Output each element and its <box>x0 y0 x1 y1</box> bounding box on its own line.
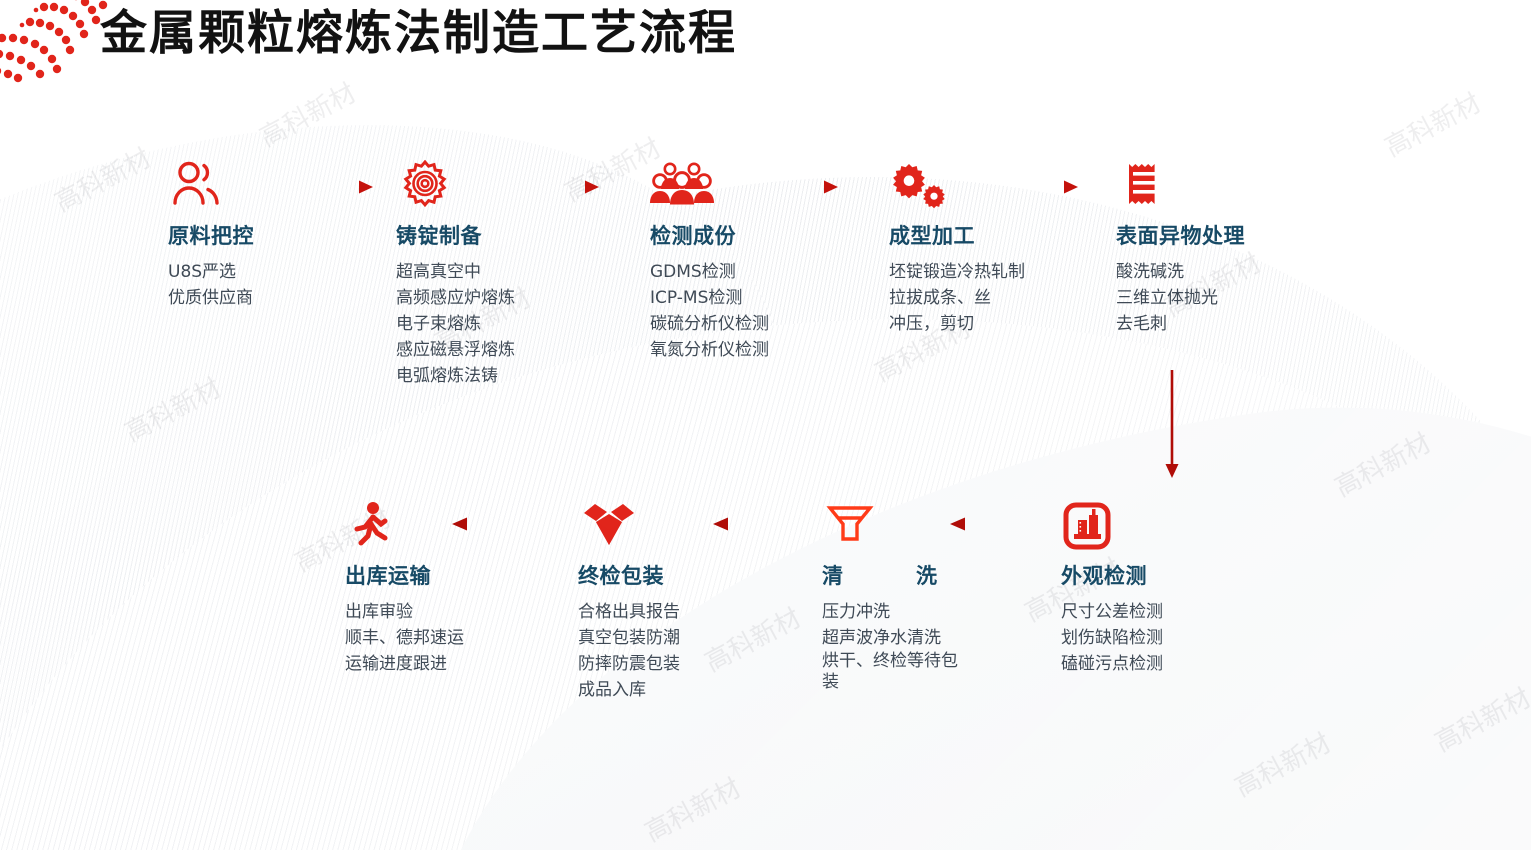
factory-badge-icon <box>1061 500 1117 556</box>
flow-step-title: 终检包装 <box>578 560 680 590</box>
flow-step-title: 检测成份 <box>650 220 769 250</box>
flow-step-final-inspection-packing[interactable]: 终检包装 合格出具报告 真空包装防潮 防摔防震包装 成品入库 <box>578 500 680 703</box>
flow-step-title: 清 洗 <box>822 560 972 590</box>
flow-arrow-right-1 <box>295 178 375 196</box>
flow-step-line: 超高真空中 <box>396 259 515 285</box>
flow-step-line: 三维立体抛光 <box>1116 285 1245 311</box>
flow-arrow-down-5 <box>1163 370 1181 480</box>
flow-step-line: 超声波净水清洗 <box>822 625 972 651</box>
people-group-icon <box>650 160 714 216</box>
flow-step-surface-foreign-matter[interactable]: 表面异物处理 酸洗碱洗 三维立体抛光 去毛刺 <box>1116 160 1245 337</box>
flow-step-title: 铸锭制备 <box>396 220 515 250</box>
flow-step-line: 烘干、终检等待包装 <box>822 651 972 693</box>
flow-step-lines: 尺寸公差检测 划伤缺陷检测 磕碰污点检测 <box>1061 599 1163 677</box>
flow-step-line: 压力冲洗 <box>822 599 972 625</box>
flow-step-line: 磕碰污点检测 <box>1061 651 1163 677</box>
flow-step-line: 拉拔成条、丝 <box>889 285 1025 311</box>
flow-step-composition-testing[interactable]: 检测成份 GDMS检测 ICP-MS检测 碳硫分析仪检测 氧氮分析仪检测 <box>650 160 769 363</box>
flow-step-lines: U8S严选 优质供应商 <box>168 259 254 311</box>
flow-step-line: 成品入库 <box>578 677 680 703</box>
flow-step-title: 外观检测 <box>1061 560 1163 590</box>
flow-step-line: 高频感应炉熔炼 <box>396 285 515 311</box>
flow-step-line: 出库审验 <box>345 599 464 625</box>
flow-step-title: 出库运输 <box>345 560 464 590</box>
flow-step-line: GDMS检测 <box>650 259 769 285</box>
flow-arrow-right-2 <box>521 178 601 196</box>
funnel-icon <box>822 500 878 556</box>
flow-step-line: 尺寸公差检测 <box>1061 599 1163 625</box>
flow-step-line: 碳硫分析仪检测 <box>650 311 769 337</box>
flow-step-title: 表面异物处理 <box>1116 220 1245 250</box>
flow-step-lines: 合格出具报告 真空包装防潮 防摔防震包装 成品入库 <box>578 599 680 703</box>
flow-step-title: 成型加工 <box>889 220 1025 250</box>
flow-step-lines: 超高真空中 高频感应炉熔炼 电子束熔炼 感应磁悬浮熔炼 电弧熔炼法铸 <box>396 259 515 389</box>
flow-step-line: 感应磁悬浮熔炼 <box>396 337 515 363</box>
flow-step-line: 划伤缺陷检测 <box>1061 625 1163 651</box>
flow-step-lines: 压力冲洗 超声波净水清洗 烘干、终检等待包装 <box>822 599 972 693</box>
flow-step-line: ICP-MS检测 <box>650 285 769 311</box>
two-gears-icon <box>889 160 951 216</box>
flow-step-line: 酸洗碱洗 <box>1116 259 1245 285</box>
flow-step-title: 原料把控 <box>168 220 254 250</box>
flow-step-ingot-preparation[interactable]: 铸锭制备 超高真空中 高频感应炉熔炼 电子束熔炼 感应磁悬浮熔炼 电弧熔炼法铸 <box>396 160 515 389</box>
flow-step-line: 电子束熔炼 <box>396 311 515 337</box>
flow-arrow-left-8 <box>447 515 532 533</box>
flow-step-lines: GDMS检测 ICP-MS检测 碳硫分析仪检测 氧氮分析仪检测 <box>650 259 769 363</box>
users-icon <box>168 160 226 216</box>
flow-step-line: 冲压，剪切 <box>889 311 1025 337</box>
gear-target-icon <box>396 160 454 216</box>
flow-step-lines: 出库审验 顺丰、德邦速运 运输进度跟进 <box>345 599 464 677</box>
flow-step-line: 真空包装防潮 <box>578 625 680 651</box>
flow-step-appearance-inspection[interactable]: 外观检测 尺寸公差检测 划伤缺陷检测 磕碰污点检测 <box>1061 500 1163 677</box>
flow-step-line: 优质供应商 <box>168 285 254 311</box>
flow-step-raw-material-control[interactable]: 原料把控 U8S严选 优质供应商 <box>168 160 254 311</box>
flow-arrow-right-4 <box>1000 178 1080 196</box>
flow-step-line: 电弧熔炼法铸 <box>396 363 515 389</box>
flow-step-line: 顺丰、德邦速运 <box>345 625 464 651</box>
flow-step-line: 防摔防震包装 <box>578 651 680 677</box>
flow-arrow-left-7 <box>708 515 793 533</box>
flow-step-line: 去毛刺 <box>1116 311 1245 337</box>
flow-step-lines: 坯锭锻造冷热轧制 拉拔成条、丝 冲压，剪切 <box>889 259 1025 337</box>
flow-step-line: U8S严选 <box>168 259 254 285</box>
walking-person-icon <box>345 500 401 556</box>
flow-step-line: 合格出具报告 <box>578 599 680 625</box>
flow-arrow-left-6 <box>945 515 1030 533</box>
open-box-icon <box>578 500 640 556</box>
process-flow-diagram: 原料把控 U8S严选 优质供应商 铸锭制备 超高真空中 高频感应炉熔炼 电子束熔… <box>0 0 1531 850</box>
flow-step-lines: 酸洗碱洗 三维立体抛光 去毛刺 <box>1116 259 1245 337</box>
flow-step-line: 氧氮分析仪检测 <box>650 337 769 363</box>
flow-arrow-right-3 <box>760 178 840 196</box>
flow-step-line: 坯锭锻造冷热轧制 <box>889 259 1025 285</box>
flow-step-line: 运输进度跟进 <box>345 651 464 677</box>
receipt-lines-icon <box>1116 160 1174 216</box>
